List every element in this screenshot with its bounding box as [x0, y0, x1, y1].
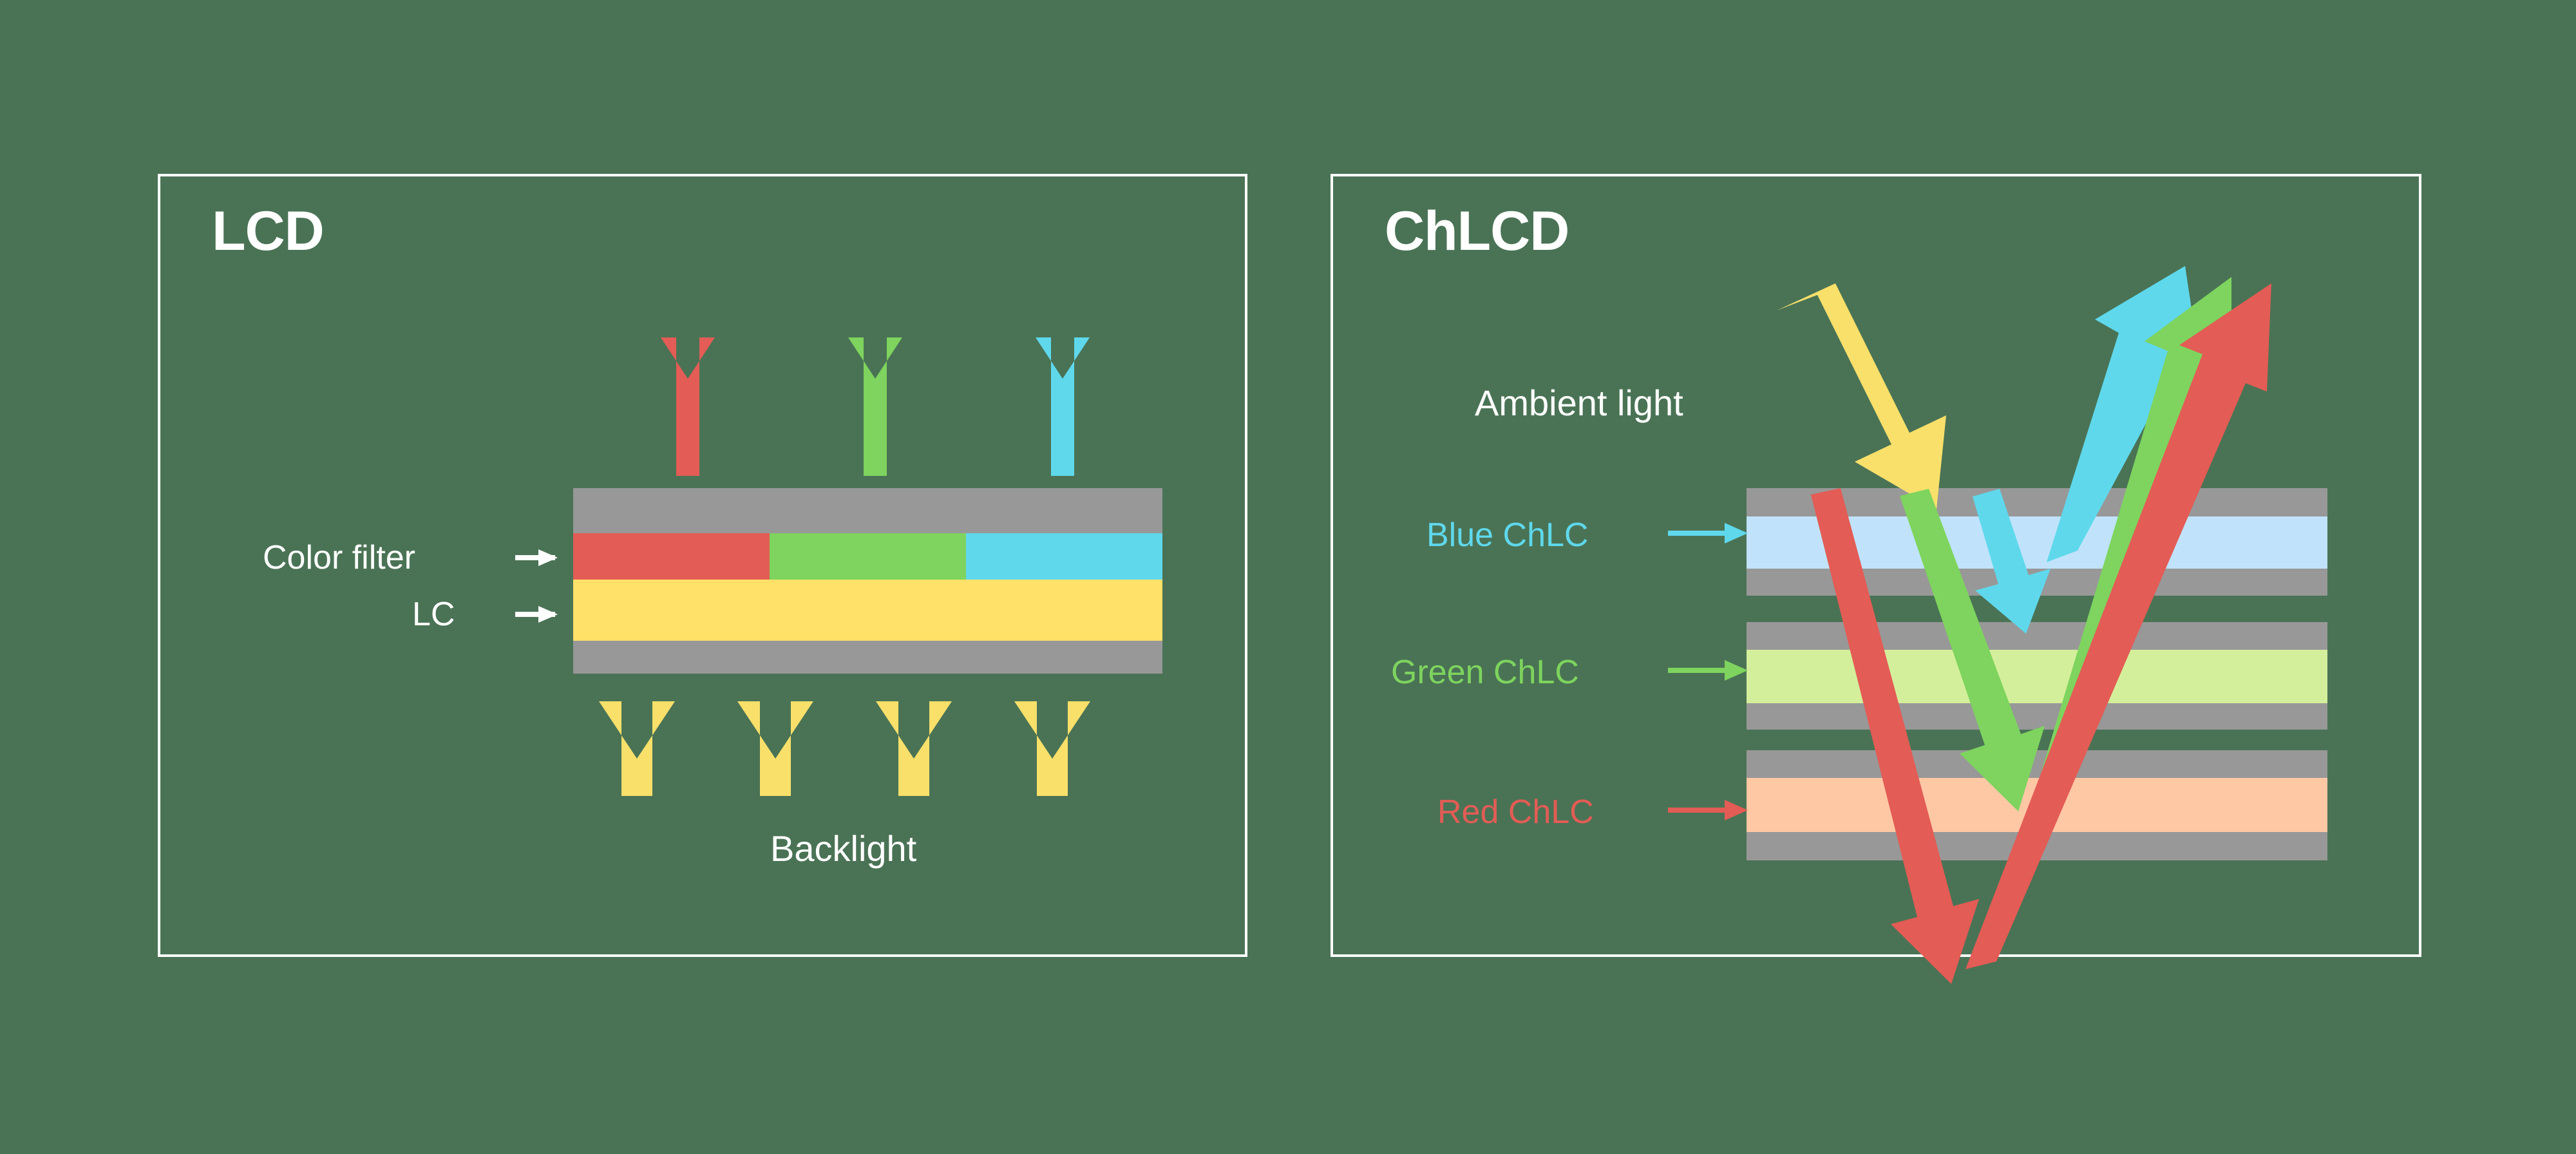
chlcd-green-chlc-layer [1747, 650, 2327, 703]
lcd-color-filter-blue [966, 533, 1162, 580]
leader-arrow-lc [515, 612, 555, 617]
lcd-bottom-glass-layer [573, 641, 1162, 674]
label-green-chlc: Green ChLC [1391, 656, 1579, 689]
label-ambient-light: Ambient light [1475, 385, 1683, 421]
lcd-layer-stack [573, 488, 1162, 674]
lcd-color-filter-red [573, 533, 770, 580]
leader-arrow-color-filter [515, 555, 555, 560]
label-red-chlc: Red ChLC [1437, 795, 1594, 829]
chlcd-blue-top-glass [1747, 488, 2327, 516]
chlcd-green-bottom-glass [1747, 703, 2327, 730]
chlcd-green-top-glass [1747, 622, 2327, 650]
label-backlight: Backlight [770, 831, 916, 867]
lcd-liquid-crystal-layer [573, 580, 1162, 641]
lcd-top-glass-layer [573, 488, 1162, 533]
label-blue-chlc: Blue ChLC [1426, 518, 1588, 552]
chlcd-blue-bottom-glass [1747, 569, 2327, 596]
lcd-color-filter-green [770, 533, 966, 580]
panel-chlcd-title: ChLCD [1385, 203, 1569, 259]
chlcd-blue-chlc-layer [1747, 516, 2327, 569]
chlcd-layer-stack [1747, 488, 2327, 860]
diagram-canvas: LCD Color filter LC Backlight ChLCD Ambi… [0, 0, 2576, 1154]
chlcd-red-bottom-glass [1747, 832, 2327, 860]
panel-lcd-title: LCD [212, 203, 324, 259]
label-lc: LC [412, 598, 455, 631]
chlcd-red-chlc-layer [1747, 778, 2327, 832]
chlcd-red-top-glass [1747, 750, 2327, 778]
label-color-filter: Color filter [263, 541, 415, 574]
